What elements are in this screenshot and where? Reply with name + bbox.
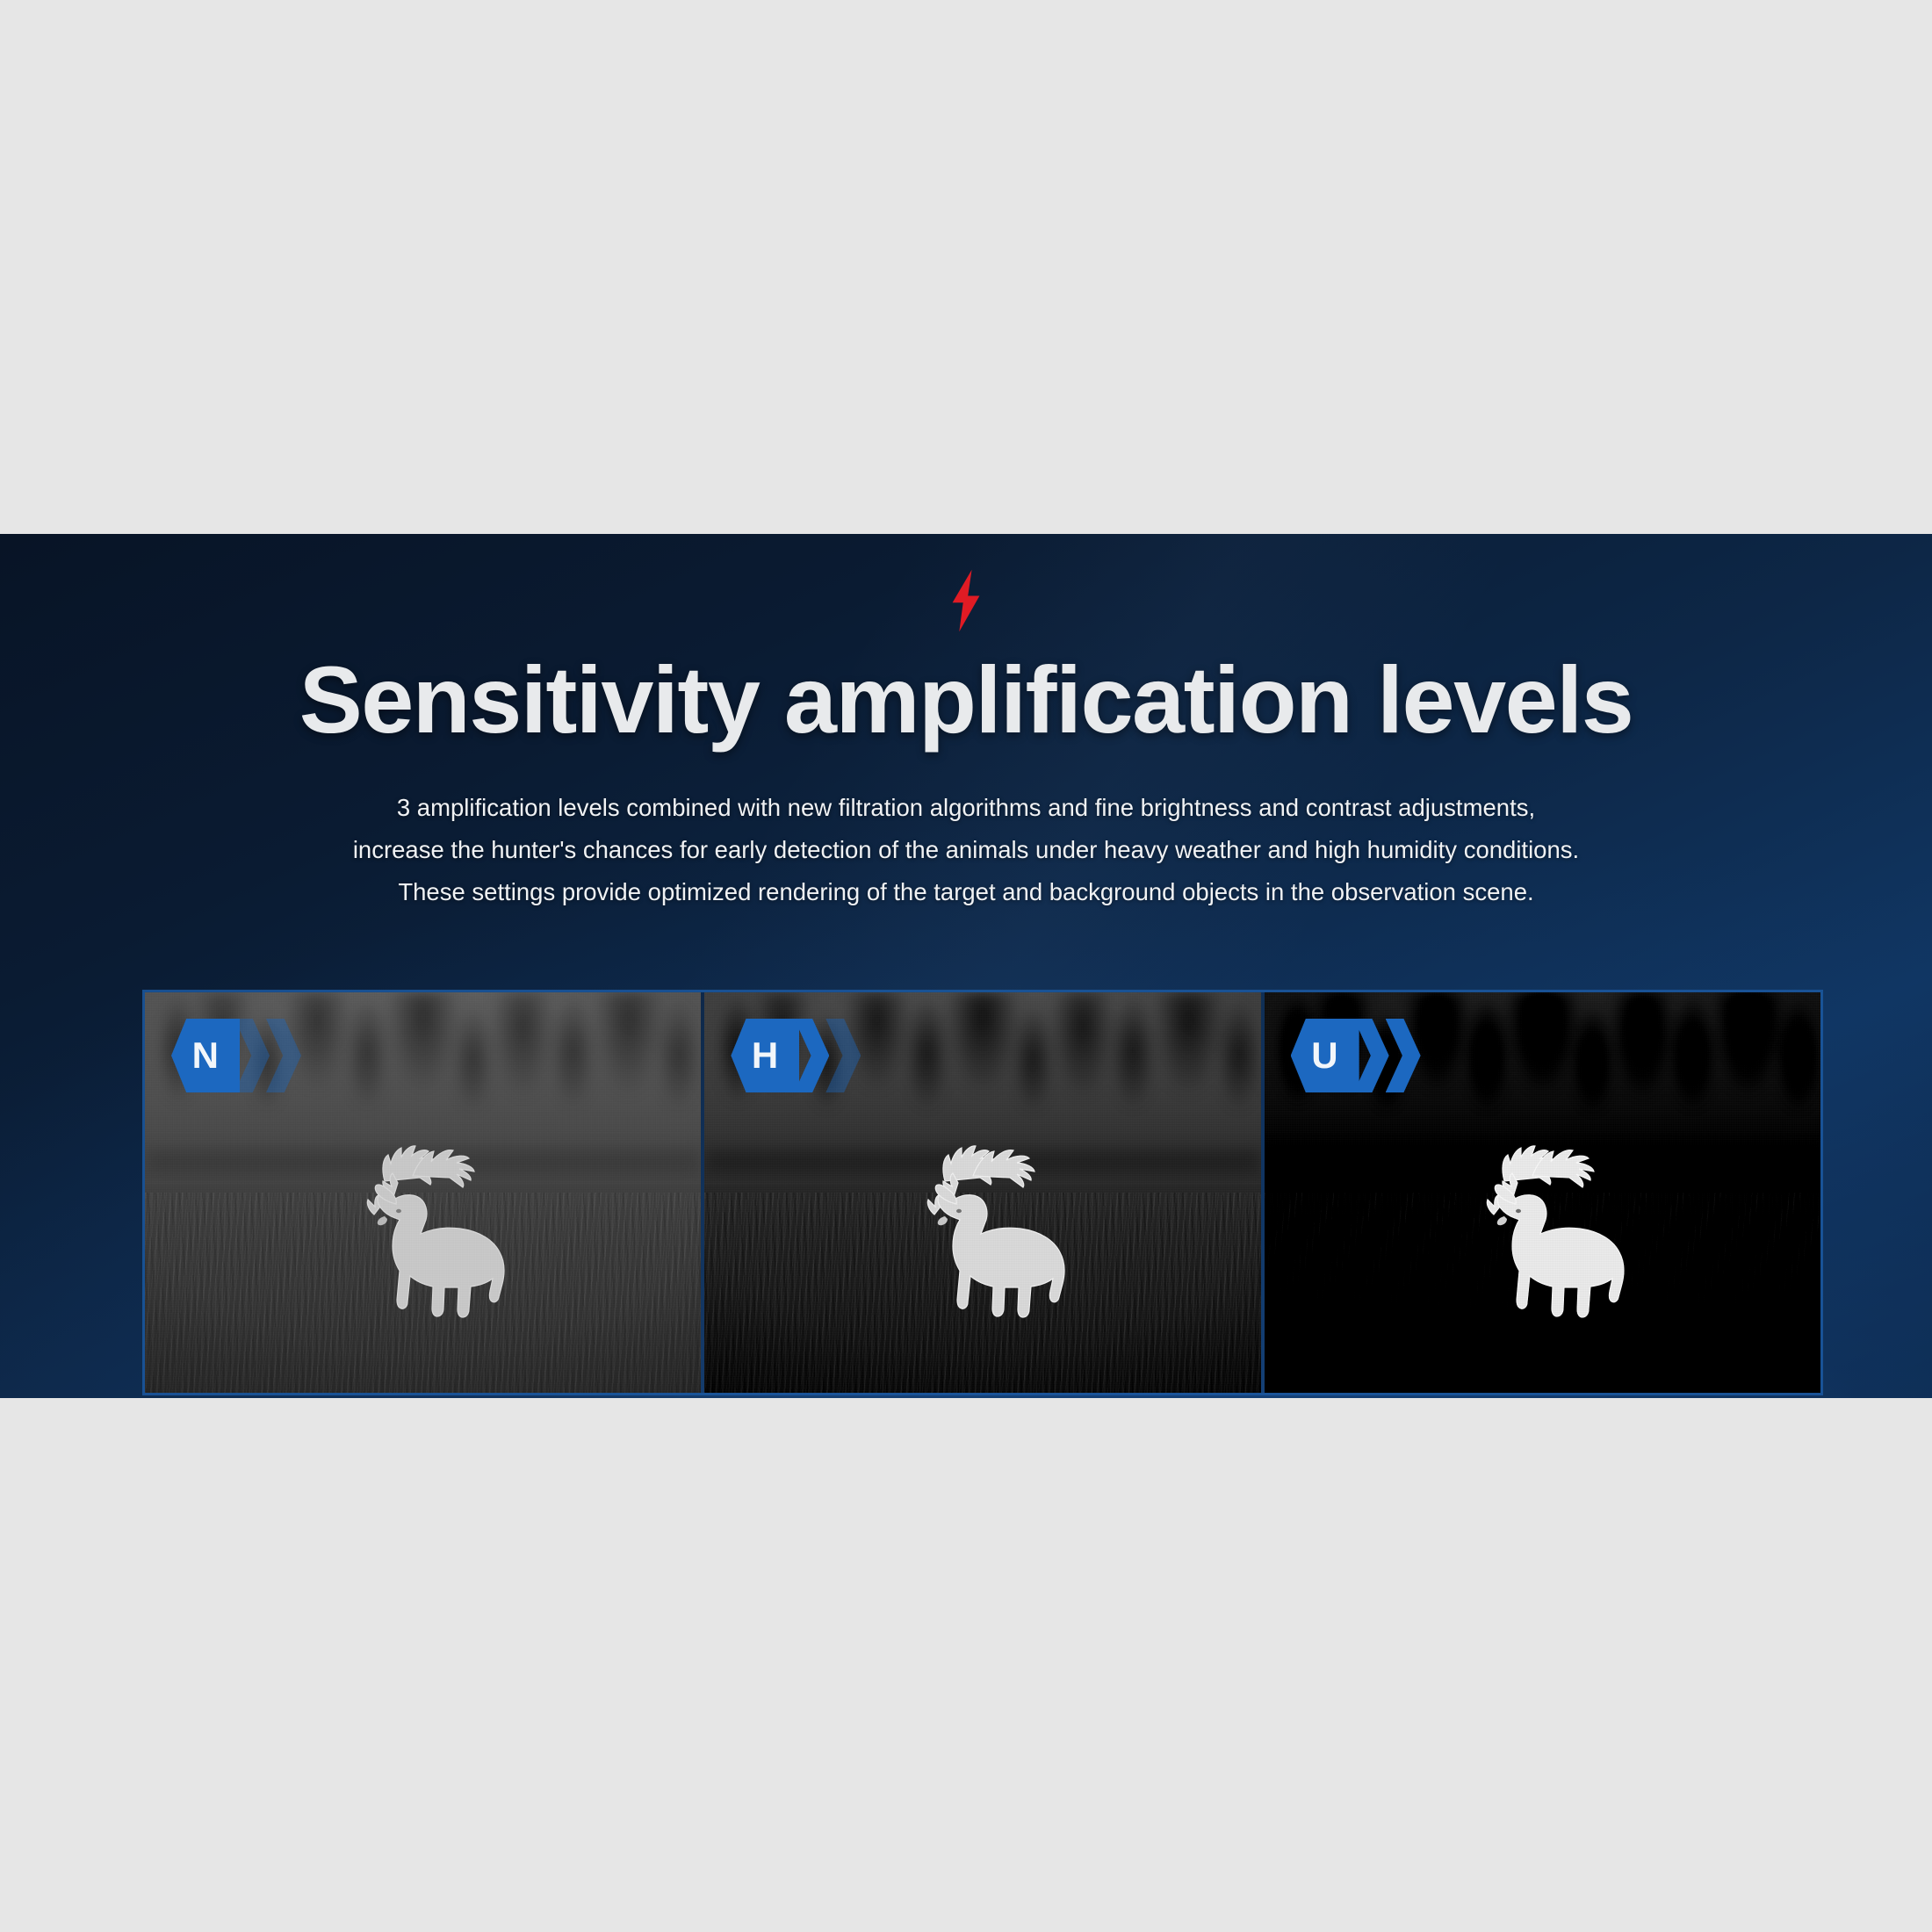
level-hex-high: H [731,1019,799,1092]
sensitivity-amplification-banner: Sensitivity amplification levels 3 ampli… [0,534,1932,1398]
description-line-1: 3 amplification levels combined with new… [255,787,1677,829]
amplification-badge-normal[interactable]: N [171,1019,298,1092]
chevron-1-high-icon [794,1019,829,1092]
bolt-icon-row [0,569,1932,632]
chevron-1-normal-icon [234,1019,270,1092]
page-title: Sensitivity amplification levels [0,650,1932,749]
amplification-badge-high[interactable]: H [731,1019,857,1092]
amplification-badge-ultra[interactable]: U [1291,1019,1417,1092]
chevron-2-high-icon [825,1019,861,1092]
amplification-panel-ultra[interactable]: U [1265,992,1820,1393]
amplification-panel-normal[interactable]: N [145,992,701,1393]
amplification-panel-strip: N [145,992,1820,1393]
banner-description: 3 amplification levels combined with new… [255,787,1677,913]
chevron-2-ultra-icon [1386,1019,1421,1092]
lightning-bolt-icon [947,569,985,632]
chevron-1-ultra-icon [1354,1019,1389,1092]
level-hex-normal: N [171,1019,240,1092]
description-line-3: These settings provide optimized renderi… [255,871,1677,913]
description-line-2: increase the hunter's chances for early … [255,829,1677,871]
level-hex-ultra: U [1291,1019,1359,1092]
chevron-2-normal-icon [266,1019,301,1092]
amplification-panel-high[interactable]: H [704,992,1260,1393]
